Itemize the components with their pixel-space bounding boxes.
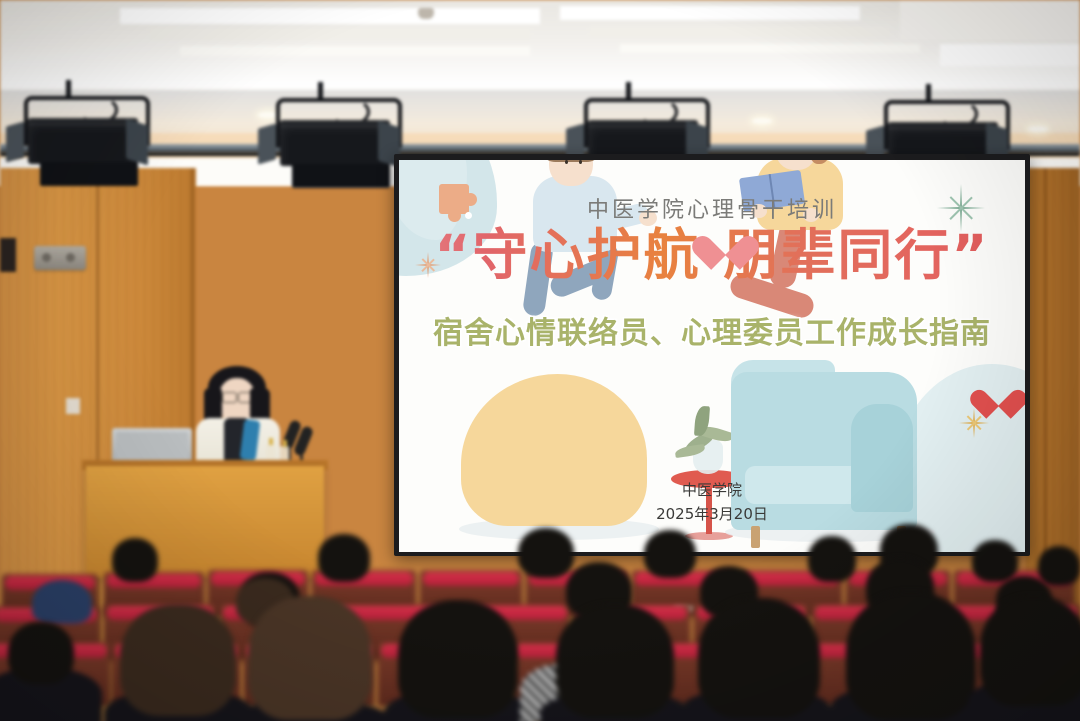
audience-head — [120, 604, 236, 716]
stage-light-lower-unit — [292, 164, 390, 188]
audience-head — [846, 592, 976, 720]
man-eye — [579, 160, 582, 164]
smoke-detector-icon — [418, 8, 434, 19]
man-hair — [545, 160, 597, 162]
ceiling-coffer — [940, 44, 1080, 66]
wall-fixture-plate — [34, 246, 86, 270]
eyeglasses-icon — [222, 392, 237, 403]
ceiling-coffer — [150, 28, 530, 40]
ceiling-coffer — [590, 26, 890, 37]
ceiling-coffer — [560, 6, 860, 20]
stage-light-body — [28, 118, 138, 164]
audience-head — [972, 540, 1018, 582]
audience-head — [980, 596, 1080, 706]
audience-head — [8, 622, 74, 684]
stage-light-body — [280, 120, 390, 166]
armchair-leg — [751, 526, 760, 548]
downlight-icon — [1028, 126, 1048, 132]
laptop-screen — [116, 432, 188, 462]
audience-head — [1038, 546, 1080, 586]
audience-head — [112, 538, 158, 582]
slide-date: 2025年3月20日 — [399, 503, 1025, 524]
wall-switch — [66, 398, 80, 414]
auditorium-photo: 中医学院心理骨干培训 “守心护航·朋辈同行” 宿舍心情联络员、心理委员工作成长指… — [0, 0, 1080, 721]
audience-head — [808, 536, 856, 582]
man-eye — [565, 160, 568, 164]
stage-light-lower-unit — [40, 162, 138, 186]
stage-light — [20, 80, 146, 180]
audience-head-with-cap — [32, 580, 92, 624]
slide-subtitle: 宿舍心情联络员、心理委员工作成长指南 — [399, 308, 1025, 352]
audience-head — [518, 528, 574, 578]
heart-icon — [705, 222, 745, 258]
stage-light — [272, 82, 398, 182]
audience-head — [644, 530, 696, 578]
audience-head — [556, 604, 674, 718]
stage-light-barndoor — [258, 123, 276, 164]
audience-head — [398, 600, 518, 718]
ceiling-coffer — [620, 44, 920, 53]
wall-junction-box — [0, 238, 16, 272]
ceiling-coffer — [120, 8, 540, 24]
ceiling-coffer — [900, 0, 1080, 40]
audience-head — [248, 596, 372, 720]
audience-head — [318, 534, 370, 582]
ceiling-coffer — [180, 46, 530, 56]
slide-kicker: 中医学院心理骨干培训 — [399, 192, 1025, 224]
slide-organization: 中医学院 — [399, 479, 1025, 500]
downlight-icon — [752, 118, 772, 124]
stage-light-barndoor — [6, 121, 24, 162]
audience-head — [698, 598, 820, 718]
stage-light-barndoor — [126, 118, 148, 165]
projection-screen: 中医学院心理骨干培训 “守心护航·朋辈同行” 宿舍心情联络员、心理委员工作成长指… — [399, 160, 1025, 552]
